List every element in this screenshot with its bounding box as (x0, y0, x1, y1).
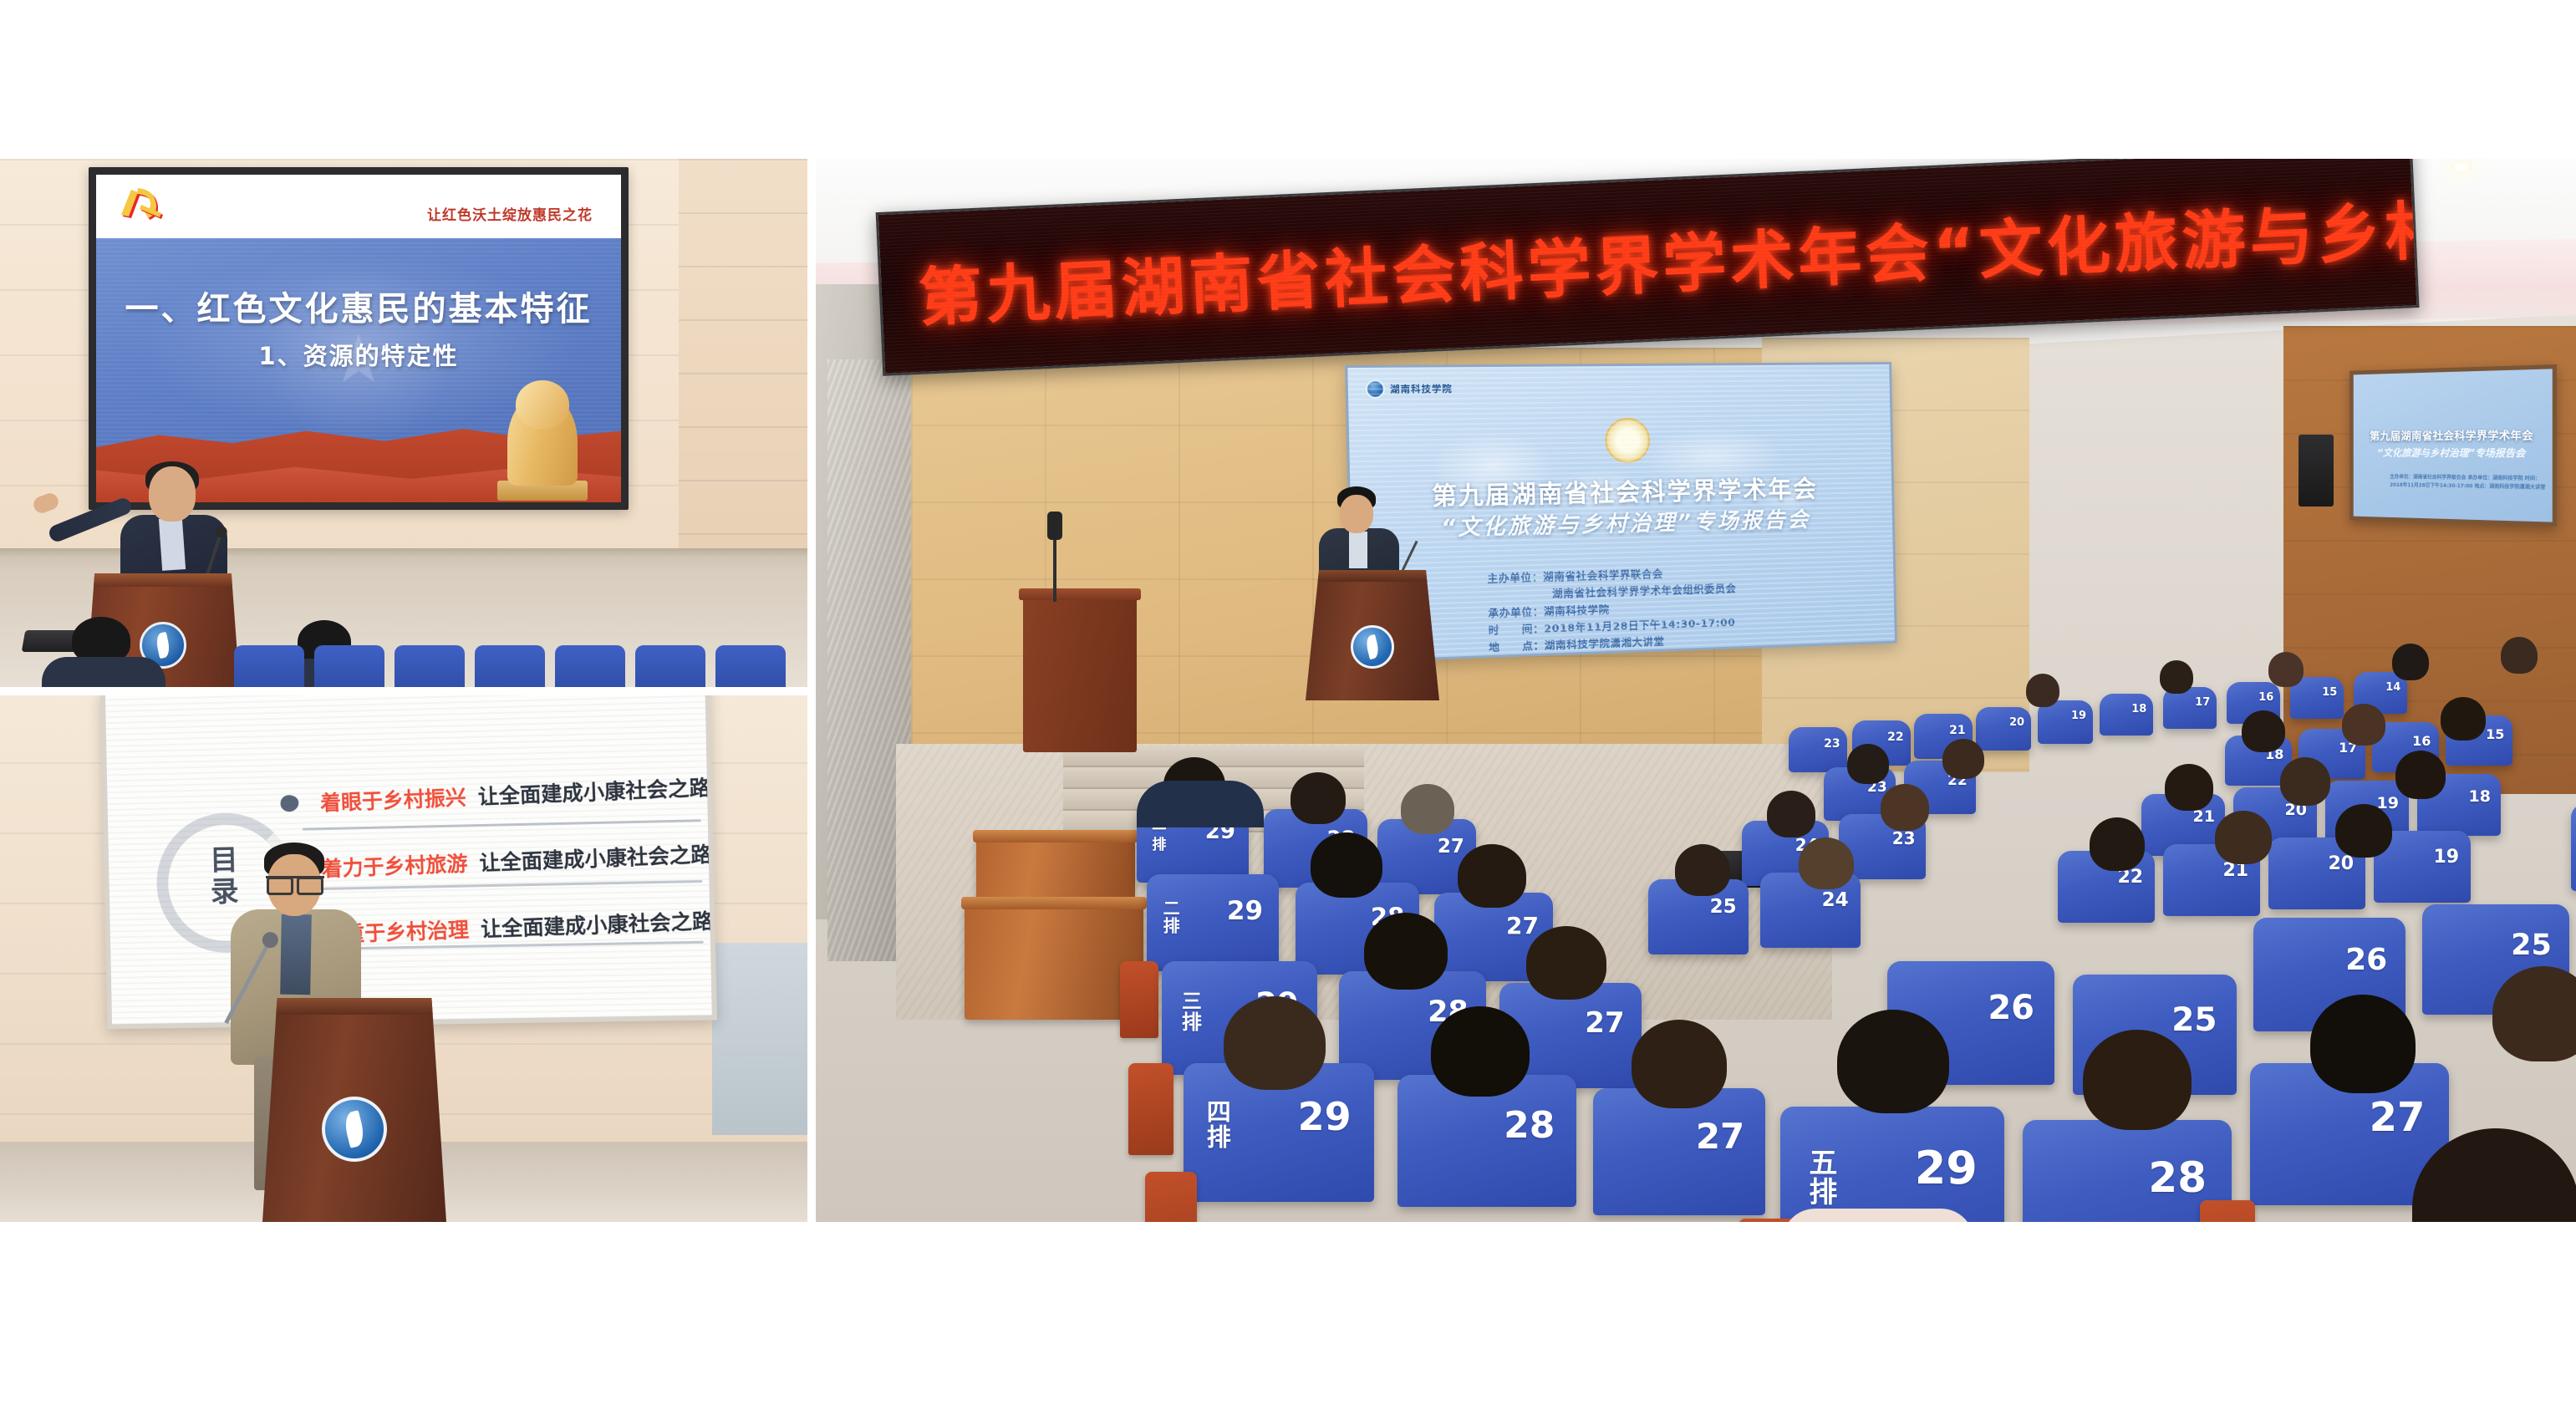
table-row: 五排 29 (1780, 1107, 2004, 1222)
side-screen-subtitle: “文化旅游与乡村治理”专场报告会 (2354, 445, 2553, 461)
side-screen-info: 主办单位：湖南省社会科学界联合会 承办单位：湖南科技学院 时间：2018年11月… (2390, 473, 2552, 491)
bullet-body: 让全面建成小康社会之路 (480, 904, 714, 943)
university-name: 湖南科技学院 (1390, 382, 1453, 396)
top-left-photo: 让红色沃土绽放惠民之花 ★ 一、红色文化惠民的基本特征 1、资源的特定性 (0, 159, 812, 692)
slide-header: 让红色沃土绽放惠民之花 (96, 175, 621, 238)
podium-bottom-left (262, 998, 446, 1222)
university-emblem-icon (322, 1097, 387, 1162)
list-item: 着眼于乡村振兴 让全面建成小康社会之路 越走越宽 (280, 772, 690, 819)
audience-seat-backs (234, 642, 812, 692)
world-map-background (1382, 398, 1862, 566)
wall-speaker (2299, 435, 2334, 506)
wall-panels-right (679, 159, 812, 552)
university-logo: 湖南科技学院 (1366, 379, 1453, 399)
university-emblem-icon (1366, 379, 1385, 399)
slide-title: 一、红色文化惠民的基本特征 (96, 282, 621, 330)
slide-title: 第九届湖南省社会科学界学术年会 (1350, 469, 1891, 515)
mic-stand-icon (1053, 518, 1056, 602)
bullet-body: 让全面建成小康社会之路 (479, 838, 713, 878)
seat-row-label: 四排 (1204, 1099, 1229, 1149)
cpc-emblem-icon (115, 183, 170, 225)
seat-number: 29 (1915, 1142, 1978, 1194)
table-row: 二排 29 (1147, 874, 1279, 971)
bullet-body: 让全面建成小康社会之路 (477, 771, 711, 811)
seat-row-label: 二排 (1161, 899, 1179, 934)
slide-subtitle: “文化旅游与乡村治理”专场报告会 (1351, 501, 1892, 544)
panel-divider (0, 687, 812, 695)
guardian-lion-artwork (496, 374, 589, 501)
window (712, 943, 812, 1135)
side-table (1023, 593, 1137, 752)
writing-desk (965, 903, 1143, 1020)
info-line: 主办单位：湖南省社会科学界联合会 (1487, 564, 1736, 588)
seat-row-label: 三排 (1179, 990, 1199, 1032)
podium-main (1306, 570, 1439, 700)
presentation-screen-bottom-left: 目录 着眼于乡村振兴 让全面建成小康社会之路 越走越宽 着力于乡村旅游 让全面建… (100, 692, 717, 1029)
seat-number: 29 (1298, 1094, 1352, 1139)
presentation-screen-top-left: 让红色沃土绽放惠民之花 ★ 一、红色文化惠民的基本特征 1、资源的特定性 (89, 167, 629, 510)
info-line: 承办单位：湖南科技学院 (1488, 598, 1737, 623)
conference-seal-icon (1605, 418, 1651, 464)
seat-number: 29 (1227, 896, 1263, 926)
side-wall-screen: 第九届湖南省社会科学界学术年会 “文化旅游与乡村治理”专场报告会 主办单位：湖南… (2349, 364, 2557, 527)
university-emblem-icon (1351, 625, 1394, 669)
main-hall-photo: 第九届湖南省社会科学界学术年会“文化旅游与乡村治理”专场报告会 湖南科技学院 第… (812, 159, 2576, 1222)
side-screen-title: 第九届湖南省社会科学界学术年会 (2354, 426, 2553, 443)
slide-info-block: 主办单位：湖南省社会科学界联合会 湖南省社会科学界学术年会组织委员会 承办单位：… (1487, 564, 1738, 657)
bullet-lead: 着眼于乡村振兴 (319, 781, 466, 817)
info-line: 湖南省社会科学界学术年会组织委员会 (1488, 581, 1737, 605)
bottom-left-photo: 目录 着眼于乡村振兴 让全面建成小康社会之路 越走越宽 着力于乡村旅游 让全面建… (0, 692, 812, 1222)
slide-subtitle: 1、资源的特定性 (96, 337, 621, 372)
seat-row-label: 五排 (1805, 1148, 1834, 1206)
photo-collage: 让红色沃土绽放惠民之花 ★ 一、红色文化惠民的基本特征 1、资源的特定性 (0, 159, 2576, 1222)
info-line: 时 间：2018年11月28日下午14:30-17:00 (1489, 614, 1738, 639)
bullet-dot-icon (280, 795, 299, 812)
slide-header-text: 让红色沃土绽放惠民之花 (427, 203, 593, 224)
glasses-icon (266, 876, 324, 888)
